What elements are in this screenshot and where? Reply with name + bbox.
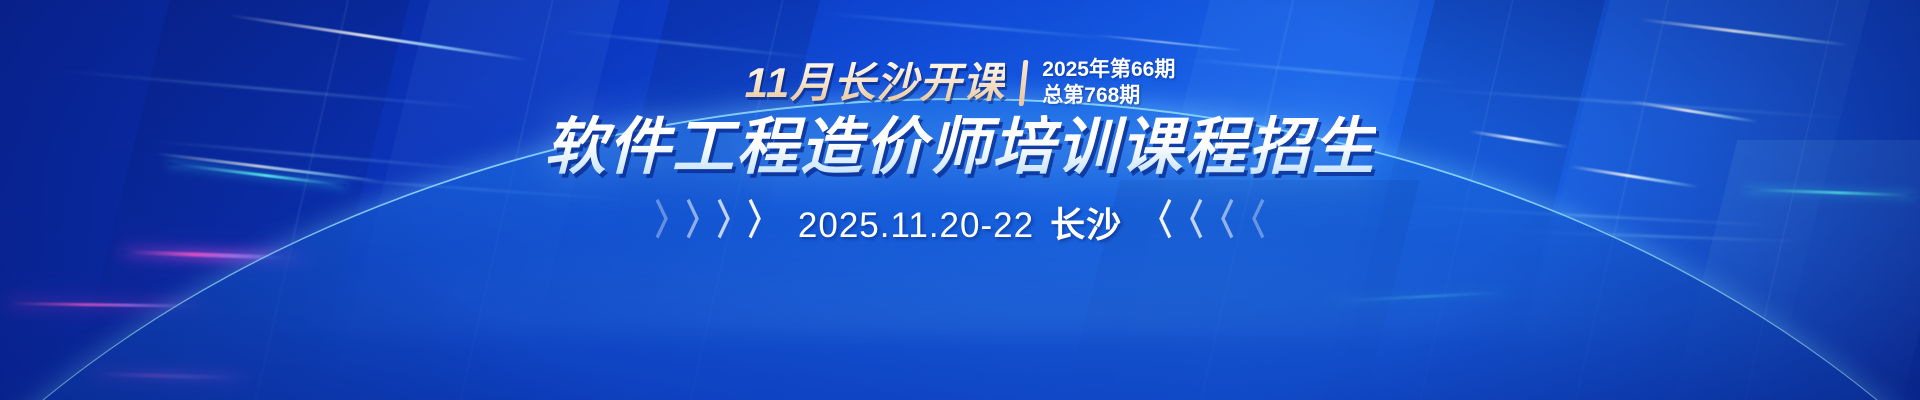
issue-total-line: 总第768期 xyxy=(1042,84,1175,108)
course-promo-banner: 11月长沙开课 2025年第66期 总第768期 软件工程造价师培训课程招生 〉… xyxy=(0,0,1920,400)
issue-year-line: 2025年第66期 xyxy=(1042,58,1175,82)
chevron-right-icon: 〉 xyxy=(686,202,716,243)
chevron-left-icon: 〈 xyxy=(1173,202,1203,243)
schedule-row: 〉 〉 〉 〉 2025.11.20-22长沙 〈 〈 〈 〈 xyxy=(655,197,1265,248)
chevron-right-icon: 〉 xyxy=(655,202,685,243)
kicker-divider-bar xyxy=(1019,60,1029,106)
chevron-left-icon: 〈 xyxy=(1235,202,1265,243)
issue-number-block: 2025年第66期 总第768期 xyxy=(1042,58,1175,107)
chevron-left-icon: 〈 xyxy=(1142,202,1172,243)
banner-content: 11月长沙开课 2025年第66期 总第768期 软件工程造价师培训课程招生 〉… xyxy=(0,0,1920,400)
chevron-right-icon: 〉 xyxy=(717,202,747,243)
schedule-date: 2025.11.20-22 xyxy=(798,206,1034,245)
schedule-city: 长沙 xyxy=(1050,206,1122,245)
schedule-text: 2025.11.20-22长沙 xyxy=(798,197,1122,248)
kicker-text: 11月长沙开课 xyxy=(745,62,1006,104)
page-title: 软件工程造价师培训课程招生 xyxy=(544,115,1376,181)
chevron-left-group-icon: 〈 〈 〈 〈 xyxy=(1142,207,1265,237)
kicker-row: 11月长沙开课 2025年第66期 总第768期 xyxy=(745,58,1176,107)
chevron-right-icon: 〉 xyxy=(748,202,778,243)
chevron-left-icon: 〈 xyxy=(1204,202,1234,243)
chevron-right-group-icon: 〉 〉 〉 〉 xyxy=(655,207,778,237)
